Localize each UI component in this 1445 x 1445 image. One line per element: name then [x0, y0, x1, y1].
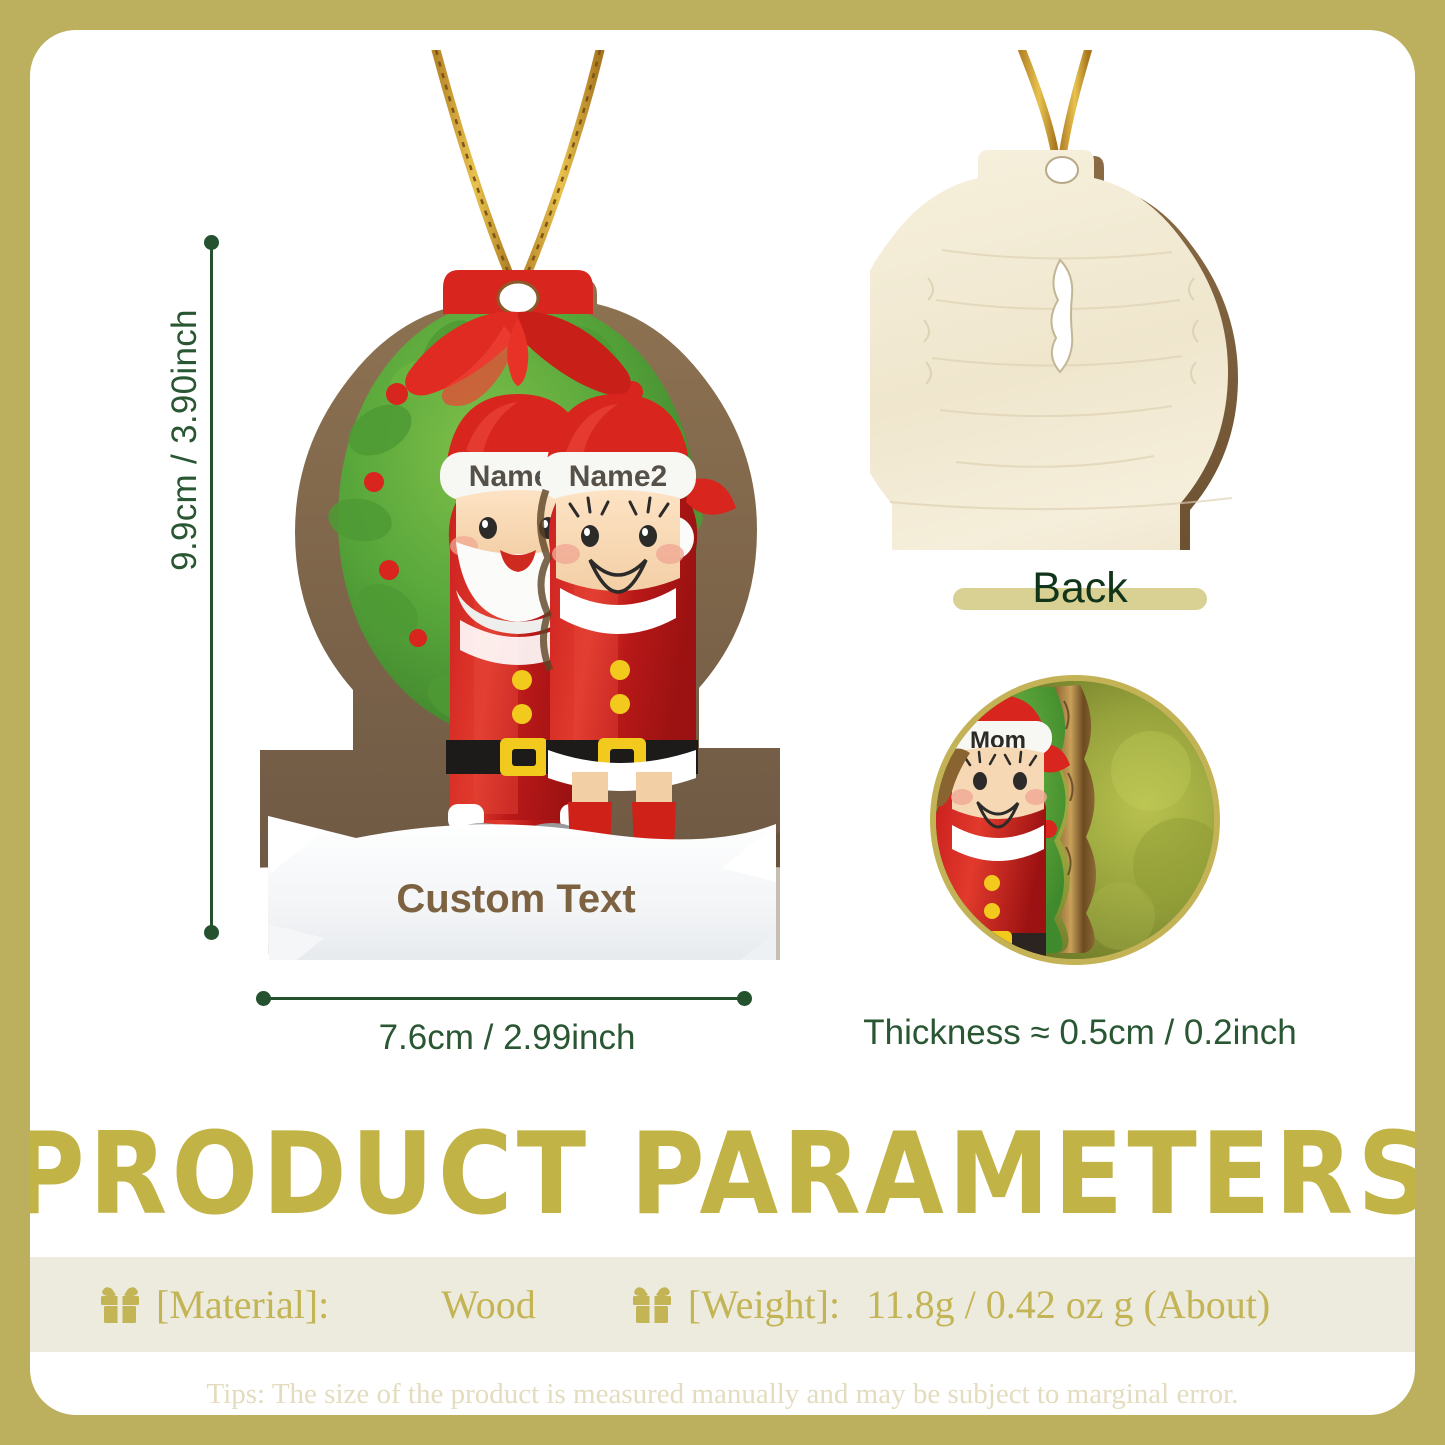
tips-text: Tips: The size of the product is measure…: [30, 1378, 1415, 1411]
gift-icon: [630, 1283, 674, 1327]
gift-icon: [98, 1283, 142, 1327]
thickness-label: Thickness ≈ 0.5cm / 0.2inch: [850, 1013, 1310, 1053]
back-view-label: Back: [935, 560, 1225, 616]
hanging-cord-back-icon: [1022, 50, 1088, 160]
product-parameters-title: PRODUCT PARAMETERS: [30, 1108, 1415, 1240]
spec-material: [Material]: Wood: [98, 1281, 536, 1328]
name2-engraving: Name2: [569, 460, 667, 493]
material-key: [Material]:: [156, 1281, 329, 1328]
back-label-text: Back: [935, 560, 1225, 616]
height-guide-dot-bottom: [204, 925, 219, 940]
width-label: 7.6cm / 2.99inch: [262, 1018, 752, 1058]
hanging-cord-icon: [436, 50, 600, 286]
weight-value: 11.8g / 0.42 oz g (About): [866, 1281, 1270, 1328]
width-guide-line: [262, 997, 750, 1000]
ornament-back-view: [870, 50, 1250, 550]
custom-text-engraving: Custom Text: [396, 877, 635, 921]
ornament-front-svg: Name1: [260, 50, 780, 960]
product-card: Name1: [30, 30, 1415, 1415]
weight-key: [Weight]:: [688, 1281, 840, 1328]
spec-bar: [Material]: Wood [Weight]: 11.8g / 0.42 …: [30, 1257, 1415, 1352]
thickness-closeup-photo: Mom: [930, 675, 1220, 965]
closeup-svg: Mom: [936, 681, 1214, 959]
material-value: Wood: [441, 1281, 536, 1328]
spec-weight: [Weight]: 11.8g / 0.42 oz g (About): [630, 1281, 1270, 1328]
back-center-cutout: [1051, 260, 1072, 372]
ornament-back-svg: [870, 50, 1250, 550]
ornament-front-view: Name1: [260, 50, 780, 960]
height-label: 9.9cm / 3.90inch: [165, 280, 205, 600]
width-guide-dot-right: [737, 991, 752, 1006]
gold-frame: Name1: [0, 0, 1445, 1445]
height-guide-line: [210, 242, 213, 932]
